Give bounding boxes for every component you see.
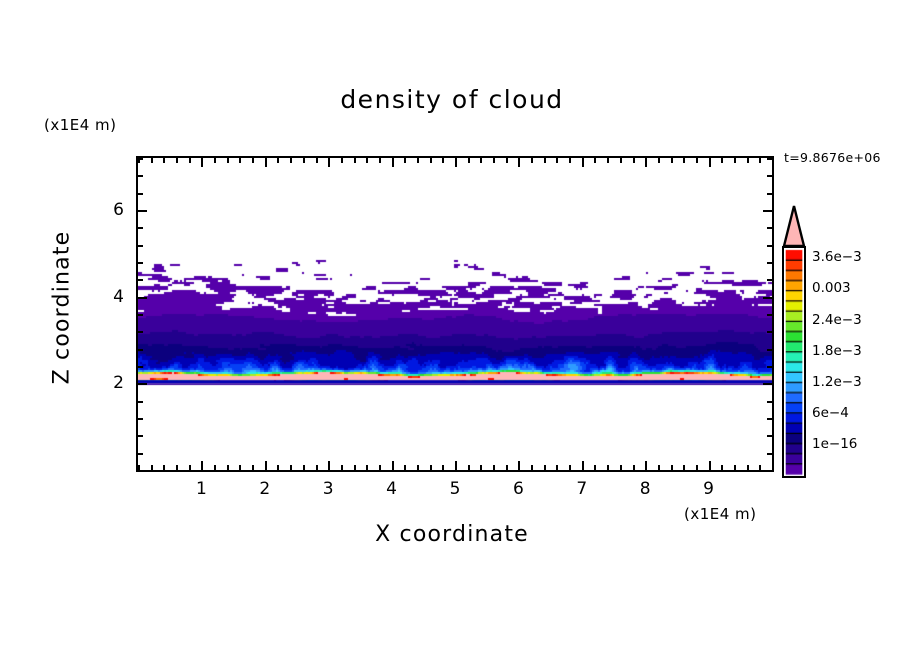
axis-tick [138,210,147,212]
contour-field [138,158,772,470]
axis-tick [506,465,508,470]
y-tick-label-4: 4 [84,287,124,307]
axis-tick [607,158,609,163]
axis-tick [379,465,381,470]
axis-tick [767,418,772,420]
colorbar-label-2: 2.4e−3 [812,312,862,328]
axis-tick [138,158,143,160]
axis-tick [430,465,432,470]
axis-tick [214,158,216,163]
axis-tick [594,465,596,470]
axis-tick [430,158,432,163]
axis-tick [277,158,279,163]
axis-tick [138,383,147,385]
axis-tick [303,158,305,163]
axis-tick [607,465,609,470]
axis-tick [189,465,191,470]
axis-tick [138,193,143,195]
axis-tick [671,158,673,163]
x-axis-unit-label: (x1E4 m) [684,505,757,523]
axis-tick [531,465,533,470]
y-axis-title: Z coordinate [50,188,75,428]
axis-tick [138,401,143,403]
axis-tick [176,465,178,470]
axis-tick [138,227,143,229]
x-tick-label-5: 5 [435,479,475,499]
axis-tick [671,465,673,470]
axis-tick [265,158,267,167]
axis-tick [214,465,216,470]
axis-tick [645,158,647,167]
axis-tick [493,158,495,163]
axis-tick [658,465,660,470]
axis-tick [468,158,470,163]
axis-tick [734,158,736,163]
axis-tick [709,461,711,470]
axis-tick [493,465,495,470]
colorbar [782,246,806,478]
axis-tick [763,297,772,299]
axis-tick [392,158,394,167]
axis-tick [252,465,254,470]
axis-tick [316,465,318,470]
axis-tick [767,366,772,368]
axis-tick [341,158,343,163]
axis-tick [138,366,143,368]
axis-tick [683,158,685,163]
colorbar-label-0: 3.6e−3 [812,249,862,265]
axis-tick [767,158,772,160]
axis-tick [506,158,508,163]
axis-tick [366,158,368,163]
axis-tick [189,158,191,163]
axis-tick [658,158,660,163]
x-tick-label-9: 9 [689,479,729,499]
axis-tick [227,158,229,163]
axis-tick [138,314,143,316]
axis-tick [772,465,774,470]
axis-tick [569,158,571,163]
axis-tick [239,158,241,163]
axis-tick [138,349,143,351]
axis-tick [138,297,147,299]
axis-tick [763,383,772,385]
axis-tick [201,461,203,470]
chart-title: density of cloud [0,85,904,114]
plot-area [136,156,774,472]
axis-tick [480,158,482,163]
axis-tick [747,465,749,470]
axis-tick [328,158,330,167]
axis-tick [767,279,772,281]
axis-tick [417,465,419,470]
axis-tick [138,279,143,281]
axis-tick [138,175,143,177]
axis-tick [328,461,330,470]
axis-tick [767,435,772,437]
axis-tick [404,465,406,470]
x-tick-label-8: 8 [625,479,665,499]
axis-tick [455,158,457,167]
axis-tick [379,158,381,163]
y-tick-label-2: 2 [84,373,124,393]
axis-tick [138,418,143,420]
axis-tick [354,158,356,163]
axis-tick [556,158,558,163]
axis-tick [767,193,772,195]
axis-tick [683,465,685,470]
axis-tick [201,158,203,167]
axis-tick [138,435,143,437]
x-tick-label-3: 3 [308,479,348,499]
axis-tick [556,465,558,470]
axis-tick [151,465,153,470]
axis-tick [354,465,356,470]
axis-tick [290,158,292,163]
axis-tick [265,461,267,470]
axis-tick [721,158,723,163]
axis-tick [767,227,772,229]
figure-canvas: density of cloud (x1E4 m) t=9.8676e+06 (… [0,0,904,654]
axis-tick [163,465,165,470]
axis-tick [303,465,305,470]
axis-tick [767,331,772,333]
axis-tick [239,465,241,470]
axis-tick [620,465,622,470]
colorbar-label-3: 1.8e−3 [812,343,862,359]
axis-tick [582,461,584,470]
axis-tick [582,158,584,167]
axis-tick [569,465,571,470]
axis-tick [767,349,772,351]
axis-tick [721,465,723,470]
axis-tick [442,465,444,470]
axis-tick [767,175,772,177]
x-tick-label-1: 1 [181,479,221,499]
axis-tick [151,158,153,163]
colorbar-label-1: 0.003 [812,280,851,296]
axis-tick [366,465,368,470]
axis-tick [518,461,520,470]
x-tick-label-7: 7 [562,479,602,499]
axis-tick [645,461,647,470]
axis-tick [252,158,254,163]
colorbar-label-4: 1.2e−3 [812,374,862,390]
axis-tick [709,158,711,167]
axis-tick [544,465,546,470]
axis-tick [747,158,749,163]
axis-tick [696,465,698,470]
axis-tick [138,453,143,455]
time-annotation: t=9.8676e+06 [784,150,881,165]
x-tick-label-6: 6 [498,479,538,499]
axis-tick [767,245,772,247]
axis-tick [696,158,698,163]
axis-tick [531,158,533,163]
axis-tick [176,158,178,163]
axis-tick [442,158,444,163]
axis-tick [759,158,761,163]
axis-tick [480,465,482,470]
axis-tick [138,331,143,333]
colorbar-over-arrow [782,204,806,248]
axis-tick [138,470,143,472]
axis-tick [392,461,394,470]
x-tick-label-2: 2 [245,479,285,499]
y-tick-label-6: 6 [84,200,124,220]
axis-tick [594,158,596,163]
x-tick-label-4: 4 [372,479,412,499]
axis-tick [633,465,635,470]
axis-tick [767,262,772,264]
axis-tick [763,210,772,212]
colorbar-label-6: 1e−16 [812,436,857,452]
axis-tick [227,465,229,470]
axis-tick [544,158,546,163]
x-axis-title: X coordinate [0,522,904,547]
axis-tick [772,158,774,163]
axis-tick [767,470,772,472]
axis-tick [633,158,635,163]
axis-tick [518,158,520,167]
axis-tick [767,314,772,316]
axis-tick [316,158,318,163]
axis-tick [767,453,772,455]
y-axis-unit-label: (x1E4 m) [44,116,117,134]
axis-tick [417,158,419,163]
axis-tick [734,465,736,470]
axis-tick [767,401,772,403]
axis-tick [404,158,406,163]
axis-tick [138,245,143,247]
axis-tick [455,461,457,470]
axis-tick [759,465,761,470]
axis-tick [290,465,292,470]
axis-tick [620,158,622,163]
axis-tick [138,262,143,264]
axis-tick [277,465,279,470]
colorbar-label-5: 6e−4 [812,405,849,421]
axis-tick [341,465,343,470]
axis-tick [163,158,165,163]
axis-tick [468,465,470,470]
